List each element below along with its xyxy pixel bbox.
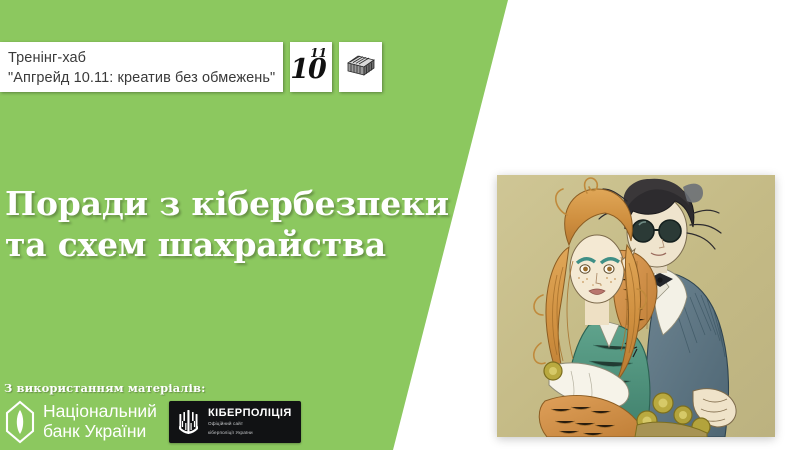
cyberpolice-subtitle-line2: кіберполіції України: [208, 430, 292, 437]
cyberpolice-title: КІБЕРПОЛІЦІЯ: [208, 407, 292, 419]
nbu-name-line2: банк України: [43, 421, 146, 441]
trident-icon: [176, 407, 201, 437]
header-row: Тренінг-хаб "Апгрейд 10.11: креатив без …: [0, 42, 382, 92]
nbu-name: Національний банк України: [43, 402, 157, 441]
cyberpolice-logo: КІБЕРПОЛІЦІЯ Офіційний сайт кіберполіції…: [169, 401, 301, 443]
nbu-logo: Національний банк України: [4, 400, 157, 444]
event-title-line2: "Апгрейд 10.11: креатив без обмежень": [8, 69, 277, 88]
badge-10-11-box: 10 11: [290, 42, 332, 92]
couple-illustration: [497, 175, 775, 437]
slide-headline: Поради з кібербезпеки та схем шахрайства: [5, 184, 435, 266]
isometric-block-icon: [345, 50, 377, 85]
cyberpolice-text: КІБЕРПОЛІЦІЯ Офіційний сайт кіберполіції…: [208, 407, 292, 436]
block-logo-box: [339, 42, 382, 92]
badge-superscript: 11: [310, 47, 327, 59]
event-title-line1: Тренінг-хаб: [8, 49, 277, 68]
event-title-box: Тренінг-хаб "Апгрейд 10.11: креатив без …: [0, 42, 283, 92]
nbu-hexagon-mark: [4, 400, 36, 444]
nbu-name-line1: Національний: [43, 401, 157, 421]
footer: З використанням матеріалів: Національний…: [4, 381, 384, 444]
footer-logos: Національний банк України: [4, 400, 384, 444]
headline-line1: Поради з кібербезпеки: [5, 184, 435, 225]
slide-root: Тренінг-хаб "Апгрейд 10.11: креатив без …: [0, 0, 799, 450]
cyberpolice-subtitle-line1: Офіційний сайт: [208, 421, 292, 428]
credit-label: З використанням матеріалів:: [4, 381, 384, 395]
headline-line2: та схем шахрайства: [5, 225, 435, 266]
